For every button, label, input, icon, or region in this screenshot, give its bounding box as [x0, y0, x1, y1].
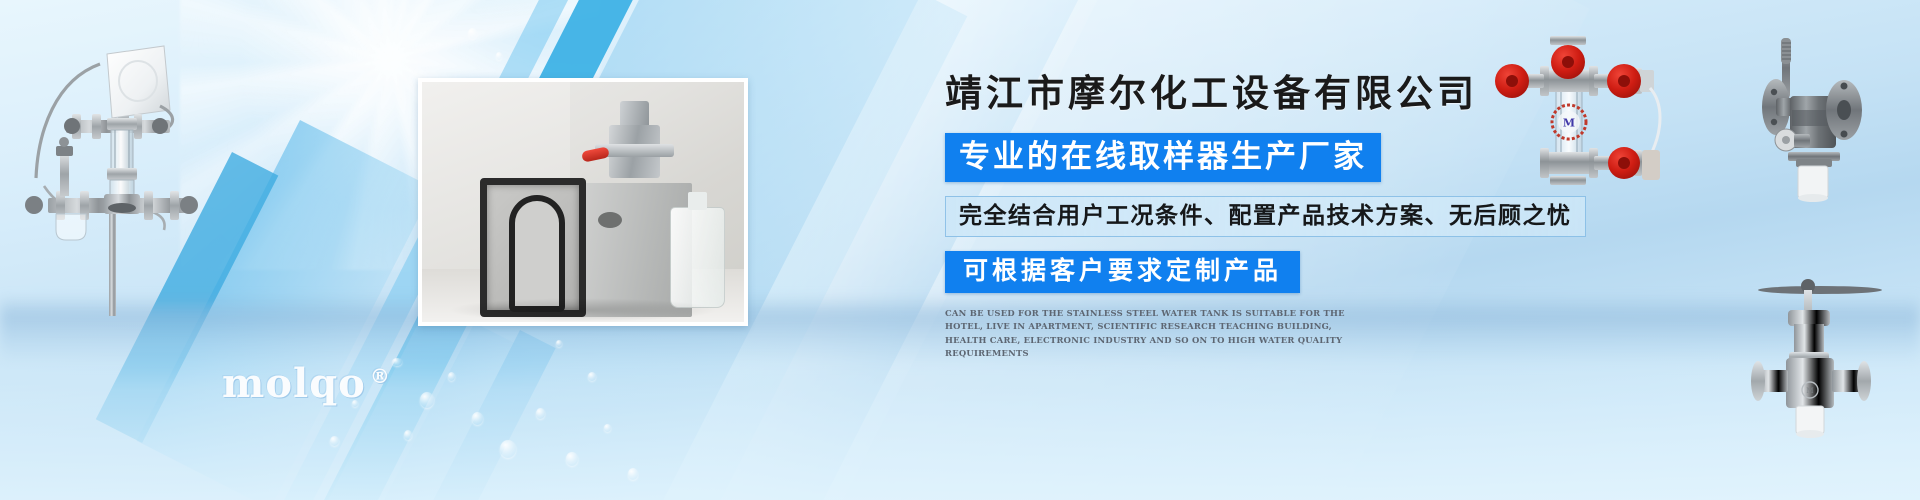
center-product-photo [418, 78, 748, 326]
water-droplet [448, 372, 455, 381]
water-droplet [392, 358, 402, 366]
water-droplet [628, 468, 638, 480]
water-droplet [566, 452, 578, 466]
company-title: 靖江市摩尔化工设备有限公司 [945, 72, 1705, 115]
right-equipment-flanged-lever-valve [1762, 24, 1912, 214]
water-droplet [604, 424, 611, 432]
right-equipment-flanged-sampling-valve: M [1742, 238, 1920, 448]
water-droplet [536, 408, 545, 419]
brand-watermark: molqo® [222, 360, 391, 407]
left-equipment-online-sampler [4, 18, 204, 318]
marketing-copy-block: 靖江市摩尔化工设备有限公司 专业的在线取样器生产厂家 完全结合用户工况条件、配置… [945, 72, 1705, 361]
svg-text:M: M [1806, 387, 1813, 395]
english-description: CAN BE USED FOR THE STAINLESS STEEL WATE… [945, 307, 1370, 361]
water-droplet [500, 440, 516, 458]
water-droplet [472, 412, 483, 425]
tagline-secondary: 完全结合用户工况条件、配置产品技术方案、无后顾之忧 [945, 196, 1586, 237]
watermark-registered-icon: ® [370, 364, 391, 388]
water-droplet [496, 52, 502, 60]
water-droplet [404, 430, 412, 440]
watermark-brand: molqo [222, 360, 366, 407]
water-droplet [330, 436, 339, 446]
water-droplet [420, 392, 434, 408]
water-droplet [468, 28, 477, 39]
water-droplet [588, 372, 596, 381]
water-droplet [556, 340, 562, 347]
tagline-primary: 专业的在线取样器生产厂家 [945, 133, 1381, 183]
promotional-banner: M [0, 0, 1920, 500]
tagline-third: 可根据客户要求定制产品 [945, 251, 1300, 293]
